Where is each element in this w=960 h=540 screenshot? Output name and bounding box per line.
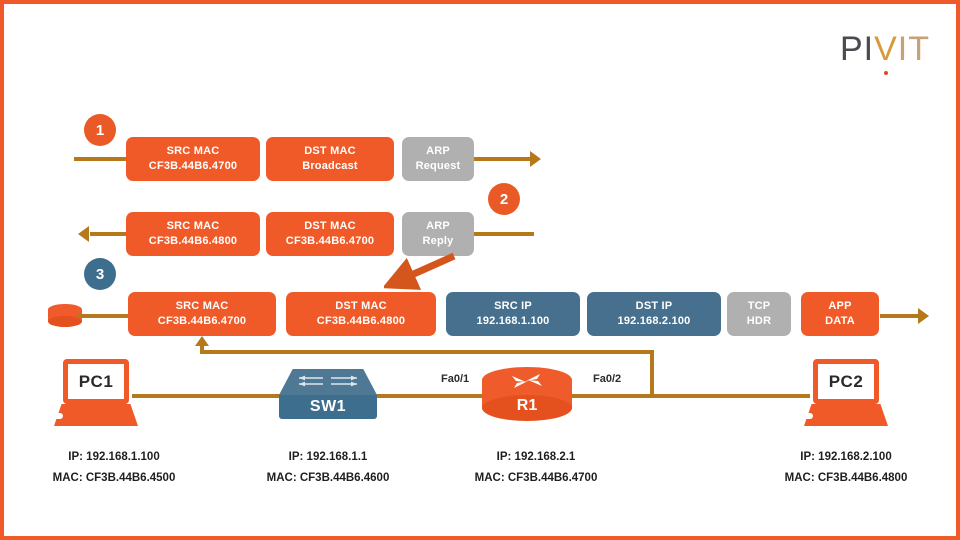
field-label: APP — [828, 299, 851, 314]
step-badge-2: 2 — [488, 183, 520, 215]
field-value: 192.168.1.100 — [477, 314, 550, 329]
feedback-line-stub — [200, 346, 204, 354]
pc1-base — [54, 404, 138, 426]
field-value: CF3B.44B6.4800 — [149, 234, 237, 249]
pc1-ip: IP: 192.168.1.100 — [14, 447, 214, 468]
sw1-body: SW1 — [279, 395, 377, 419]
row3-arrow-right — [918, 308, 929, 324]
diagram-canvas: PIVIT 1 2 3 SRC MAC CF3B.44B6.4700 DST M… — [4, 4, 956, 536]
logo-text-it: IT — [898, 30, 930, 68]
packet-field-src-mac-data: SRC MAC CF3B.44B6.4700 — [128, 292, 276, 336]
switch-arrows-icon — [293, 374, 365, 392]
field-value: HDR — [747, 314, 771, 329]
field-value: CF3B.44B6.4700 — [158, 314, 246, 329]
sw1-caption: IP: 192.168.1.1 MAC: CF3B.44B6.4600 — [228, 447, 428, 490]
field-label: TCP — [748, 299, 771, 314]
pc2-screen: PC2 — [813, 359, 879, 404]
link-sw1-r1 — [374, 394, 484, 398]
diagram-frame: PIVIT 1 2 3 SRC MAC CF3B.44B6.4700 DST M… — [0, 0, 960, 540]
pc2-base — [804, 404, 888, 426]
r1-ip: IP: 192.168.2.1 — [436, 447, 636, 468]
row3-line-left — [78, 314, 128, 318]
r1-caption: IP: 192.168.2.1 MAC: CF3B.44B6.4700 — [436, 447, 636, 490]
feedback-line-horizontal — [200, 350, 654, 354]
pc1-screen: PC1 — [63, 359, 129, 404]
port-label-fa0-2: Fa0/2 — [593, 373, 621, 385]
field-label: DST MAC — [304, 144, 356, 159]
packet-field-dst-ip: DST IP 192.168.2.100 — [587, 292, 721, 336]
link-r1-pc2 — [570, 394, 810, 398]
packet-field-tcp-hdr: TCP HDR — [727, 292, 791, 336]
row2-line-right — [474, 232, 534, 236]
field-label: SRC MAC — [167, 219, 220, 234]
row1-arrow-right — [530, 151, 541, 167]
field-label: ARP — [426, 219, 450, 234]
field-label: ARP — [426, 144, 450, 159]
row1-line-right — [474, 157, 532, 161]
r1-mac: MAC: CF3B.44B6.4700 — [436, 468, 636, 489]
packet-field-src-ip: SRC IP 192.168.1.100 — [446, 292, 580, 336]
packet-field-src-mac-req: SRC MAC CF3B.44B6.4700 — [126, 137, 260, 181]
field-value: Broadcast — [302, 159, 358, 174]
field-label: DST MAC — [335, 299, 387, 314]
link-pc1-sw1 — [132, 394, 292, 398]
feedback-arrow-up — [195, 336, 209, 346]
field-value: CF3B.44B6.4700 — [149, 159, 237, 174]
router-arrows-icon — [500, 371, 554, 391]
sw1-label: SW1 — [310, 398, 346, 416]
field-label: SRC MAC — [167, 144, 220, 159]
packet-field-arp-request: ARP Request — [402, 137, 474, 181]
pivit-logo: PIVIT — [840, 32, 930, 66]
step-badge-1: 1 — [84, 114, 116, 146]
feedback-line-vertical — [650, 350, 654, 396]
pc2-mac: MAC: CF3B.44B6.4800 — [746, 468, 946, 489]
logo-text-pi: PI — [840, 30, 874, 68]
pc1-trackpad — [45, 413, 63, 419]
packet-field-app-data: APP DATA — [801, 292, 879, 336]
packet-field-dst-mac-data: DST MAC CF3B.44B6.4800 — [286, 292, 436, 336]
field-label: DST IP — [636, 299, 673, 314]
field-value: 192.168.2.100 — [618, 314, 691, 329]
sw1-mac: MAC: CF3B.44B6.4600 — [228, 468, 428, 489]
field-value: DATA — [825, 314, 855, 329]
sw1-ip: IP: 192.168.1.1 — [228, 447, 428, 468]
logo-dot — [884, 71, 888, 75]
step-badge-3: 3 — [84, 258, 116, 290]
row1-line-left — [74, 157, 134, 161]
field-label: SRC IP — [494, 299, 532, 314]
row2-arrow-left — [78, 226, 89, 242]
field-value: CF3B.44B6.4800 — [317, 314, 405, 329]
packet-field-dst-mac-reply: DST MAC CF3B.44B6.4700 — [266, 212, 394, 256]
pc1-caption: IP: 192.168.1.100 MAC: CF3B.44B6.4500 — [14, 447, 214, 490]
field-value: Request — [416, 159, 461, 174]
port-label-fa0-1: Fa0/1 — [441, 373, 469, 385]
packet-field-src-mac-reply: SRC MAC CF3B.44B6.4800 — [126, 212, 260, 256]
logo-text-v: V — [874, 30, 898, 68]
field-value: Reply — [423, 234, 454, 249]
field-value: CF3B.44B6.4700 — [286, 234, 374, 249]
row3-line-right — [880, 314, 922, 318]
pc2-ip: IP: 192.168.2.100 — [746, 447, 946, 468]
step2-diagonal-arrow — [384, 252, 464, 292]
pc1-mac: MAC: CF3B.44B6.4500 — [14, 468, 214, 489]
pc2-label: PC2 — [829, 372, 864, 392]
field-label: SRC MAC — [176, 299, 229, 314]
field-label: DST MAC — [304, 219, 356, 234]
r1-label: R1 — [482, 395, 572, 417]
packet-field-arp-reply: ARP Reply — [402, 212, 474, 256]
pc2-caption: IP: 192.168.2.100 MAC: CF3B.44B6.4800 — [746, 447, 946, 490]
pc1-label: PC1 — [79, 372, 114, 392]
pc2-trackpad — [795, 413, 813, 419]
packet-field-dst-mac-req: DST MAC Broadcast — [266, 137, 394, 181]
